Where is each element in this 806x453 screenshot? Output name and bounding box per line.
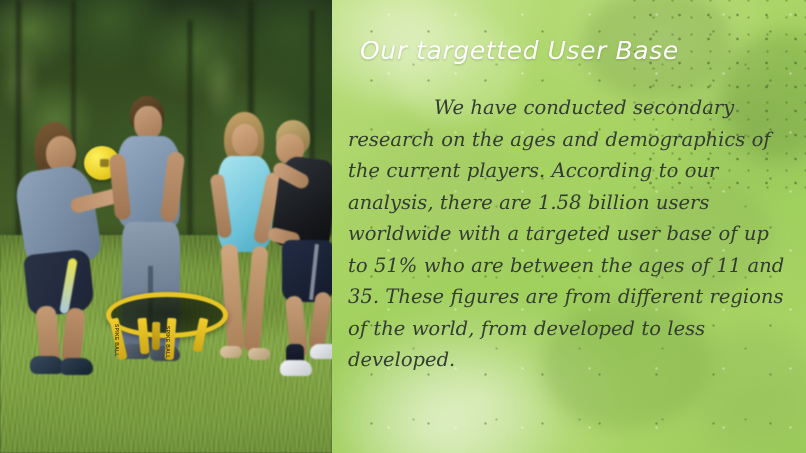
photo-panel: SPIKE BALL SPIKE BALL [0, 0, 332, 453]
content-panel: Our targetted User Base We have conducte… [332, 0, 806, 453]
child-black-shirt [262, 120, 332, 382]
spikeball-leg-label: SPIKE BALL [113, 324, 119, 357]
shoe [280, 360, 312, 376]
shoe [310, 344, 332, 359]
body-paragraph: We have conducted secondary research on … [348, 92, 788, 376]
shoe [30, 356, 64, 374]
leg [61, 307, 86, 365]
spikeball-net: SPIKE BALL SPIKE BALL [106, 292, 218, 368]
shoe [60, 358, 93, 375]
head [134, 106, 162, 140]
shoe [220, 346, 242, 358]
head [232, 124, 258, 156]
page-title: Our targetted User Base [360, 36, 780, 65]
spikeball-leg [152, 322, 160, 350]
slide: SPIKE BALL SPIKE BALL Our targetted User… [0, 0, 806, 453]
navy-shorts [23, 249, 95, 318]
spikeball-leg-label: SPIKE BALL [164, 326, 170, 359]
leg [220, 244, 244, 353]
